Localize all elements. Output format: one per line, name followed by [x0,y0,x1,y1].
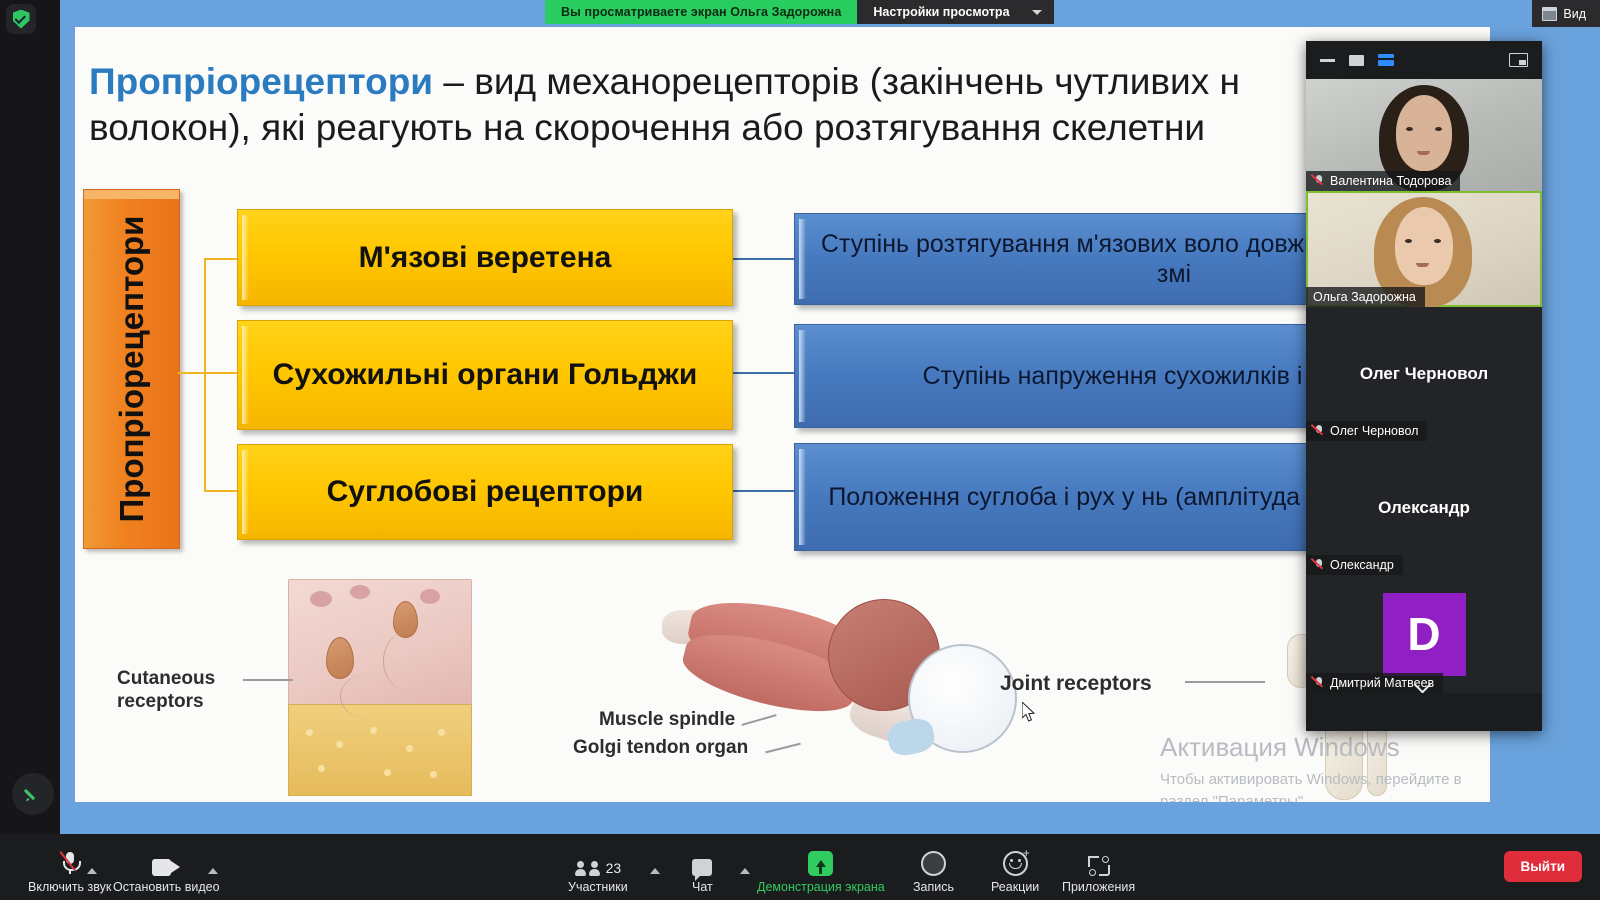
participants-video-panel: Валентина Тодорова Ольга Задорожна Олег … [1306,41,1542,731]
slide-title-highlight: Пропріорецептори [89,61,433,102]
connector-blue-1 [732,258,794,260]
connector-blue-3 [732,490,794,492]
windows-activation-watermark: Активация Windows Чтобы активировать Win… [1160,732,1490,802]
toolbar-item-apps[interactable]: Приложения [1062,850,1135,894]
panel-header [1306,41,1542,79]
fat-cell-5 [438,729,445,736]
participant-tile-2[interactable]: Ольга Задорожна [1306,191,1542,307]
fat-cell-2 [336,741,343,748]
toolbar-item-chat[interactable]: Чат [692,850,713,894]
toolbar-label-record: Запись [913,880,954,894]
toolbar-label-chat: Чат [692,880,713,894]
participant-nameplate-3: Олег Черновол [1306,421,1427,441]
mute-options-chevron-icon[interactable] [87,868,97,874]
watermark-title: Активация Windows [1160,732,1490,763]
toolbar-item-reactions[interactable]: + Реакции [991,850,1039,894]
participant-name-1: Валентина Тодорова [1330,174,1451,188]
zoom-meeting-window: Вы просматриваете экран Ольга Задорожна … [0,0,1600,900]
share-screen-icon [808,850,833,876]
connector-branch-1 [204,258,239,260]
leader-line-joint [1185,681,1265,683]
apps-icon [1088,850,1110,876]
label-golgi-tendon-organ: Golgi tendon organ [573,737,748,760]
mic-muted-icon [1313,677,1325,690]
participant-name-3: Олег Черновол [1330,424,1418,438]
fat-cell-7 [384,769,391,776]
leave-meeting-button[interactable]: Выйти [1504,851,1583,882]
avatar: D [1383,593,1466,676]
toolbar-label-share-screen: Демонстрация экрана [757,880,885,894]
presentation-slide: Пропріорецептори – вид механорецепторів … [75,27,1490,802]
mouse-pointer [1022,702,1036,722]
participant-name-2: Ольга Задорожна [1313,290,1416,304]
participants-count: 23 [606,860,622,876]
toolbar-item-share-screen[interactable]: Демонстрация экрана [757,850,885,894]
diagram-root-label: Пропріорецептори [113,216,151,523]
view-button[interactable]: Вид [1532,0,1600,27]
participant-tile-1[interactable]: Валентина Тодорова [1306,79,1542,191]
nerve-fiber-2 [383,631,434,691]
participant-tile-4[interactable]: Олександр Олександр [1306,441,1542,575]
shield-icon [13,10,30,29]
mic-muted-icon [1313,425,1325,438]
picture-in-picture-icon[interactable] [1509,53,1528,67]
cutaneous-receptor-illustration [288,579,470,794]
fat-cell-6 [318,765,325,772]
chevron-down-icon[interactable] [1417,679,1432,687]
meeting-toolbar: Включить звук Остановить видео 23 Участн… [0,834,1600,900]
nerve-fiber-1 [340,674,396,719]
leader-line-cutaneous [243,679,293,681]
slide-title: Пропріорецептори – вид механорецепторів … [89,59,1490,150]
toolbar-label-video: Остановить видео [113,880,220,894]
participants-options-chevron-icon[interactable] [650,868,660,874]
chevron-down-icon [1032,10,1042,15]
left-dark-gutter [0,0,60,834]
diagram-yellow-box-1: М'язові веретена [237,209,733,306]
diagram-yellow-box-3: Суглобові рецептори [237,444,733,540]
video-options-chevron-icon[interactable] [208,868,218,874]
label-joint-receptors: Joint receptors [1000,671,1152,696]
participant-nameplate-1: Валентина Тодорова [1306,171,1460,191]
skin-papilla-3 [420,589,440,604]
connector-blue-2 [732,372,794,374]
toolbar-label-reactions: Реакции [991,880,1039,894]
chat-bubble-icon [692,850,712,876]
pencil-icon [25,786,42,803]
minimize-icon[interactable] [1320,59,1335,62]
view-button-label: Вид [1563,7,1586,21]
label-cutaneous-receptors: Cutaneous receptors [117,668,237,714]
watermark-body: Чтобы активировать Windows, перейдите в … [1160,769,1490,802]
view-layout-icon [1542,7,1557,21]
fat-cell-1 [306,729,313,736]
diagram-root-box: Пропріорецептори [83,189,180,549]
participant-nameplate-4: Олександр [1306,555,1403,575]
skin-papilla-2 [350,585,370,599]
view-options-button[interactable]: Настройки просмотра [857,0,1053,24]
toolbar-item-mute[interactable]: Включить звук [28,850,111,894]
gallery-view-icon[interactable] [1408,53,1423,68]
speaker-view-icon[interactable] [1378,54,1394,67]
fat-cell-4 [406,745,413,752]
toolbar-item-participants[interactable]: 23 Участники [568,850,628,894]
corpuscle-1 [326,637,354,679]
toolbar-label-participants: Участники [568,880,628,894]
slide-title-line2: волокон), які реагують на скорочення або… [89,107,1205,148]
security-shield-button[interactable] [6,4,36,34]
microphone-muted-icon [63,850,77,876]
rectangle-view-icon[interactable] [1349,55,1364,66]
toolbar-item-video[interactable]: Остановить видео [113,850,220,894]
connector-trunk [178,372,206,374]
slide-title-rest: – вид механорецепторів (закінчень чутлив… [433,61,1240,102]
sharing-status-bar: Вы просматриваете экран Ольга Задорожна … [545,0,1054,24]
label-muscle-spindle: Muscle spindle [599,709,735,732]
participant-display-name-4: Олександр [1378,498,1470,518]
participant-tile-3[interactable]: Олег Черновол Олег Черновол [1306,307,1542,441]
participant-display-name-3: Олег Черновол [1360,364,1488,384]
orange-bar-highlight [84,190,179,199]
fat-cell-8 [430,771,437,778]
skin-subcutaneous [288,704,472,796]
fat-cell-3 [370,727,377,734]
participant-tile-5[interactable]: D Дмитрий Матвеев [1306,575,1542,693]
view-options-label: Настройки просмотра [873,5,1009,19]
toolbar-item-record[interactable]: Запись [913,850,954,894]
participants-icon: 23 [575,850,622,876]
chat-options-chevron-icon[interactable] [740,868,750,874]
participant-nameplate-2: Ольга Задорожна [1306,287,1425,307]
diagram-yellow-box-2: Сухожильні органи Гольджи [237,320,733,430]
sharing-banner-label: Вы просматриваете экран Ольга Задорожна [545,0,857,24]
connector-spine [204,258,206,492]
connector-branch-3 [204,490,239,492]
record-icon [921,850,946,876]
skin-papilla-1 [310,591,332,607]
connector-branch-2 [204,372,239,374]
muscle-spindle-illustration [660,602,1020,797]
mic-muted-icon [1313,175,1325,188]
reactions-icon: + [1003,850,1028,876]
toolbar-label-mute: Включить звук [28,880,111,894]
camera-icon [152,850,180,876]
annotate-button[interactable] [12,773,54,815]
toolbar-label-apps: Приложения [1062,880,1135,894]
mic-muted-icon [1313,559,1325,572]
participant-name-4: Олександр [1330,558,1394,572]
